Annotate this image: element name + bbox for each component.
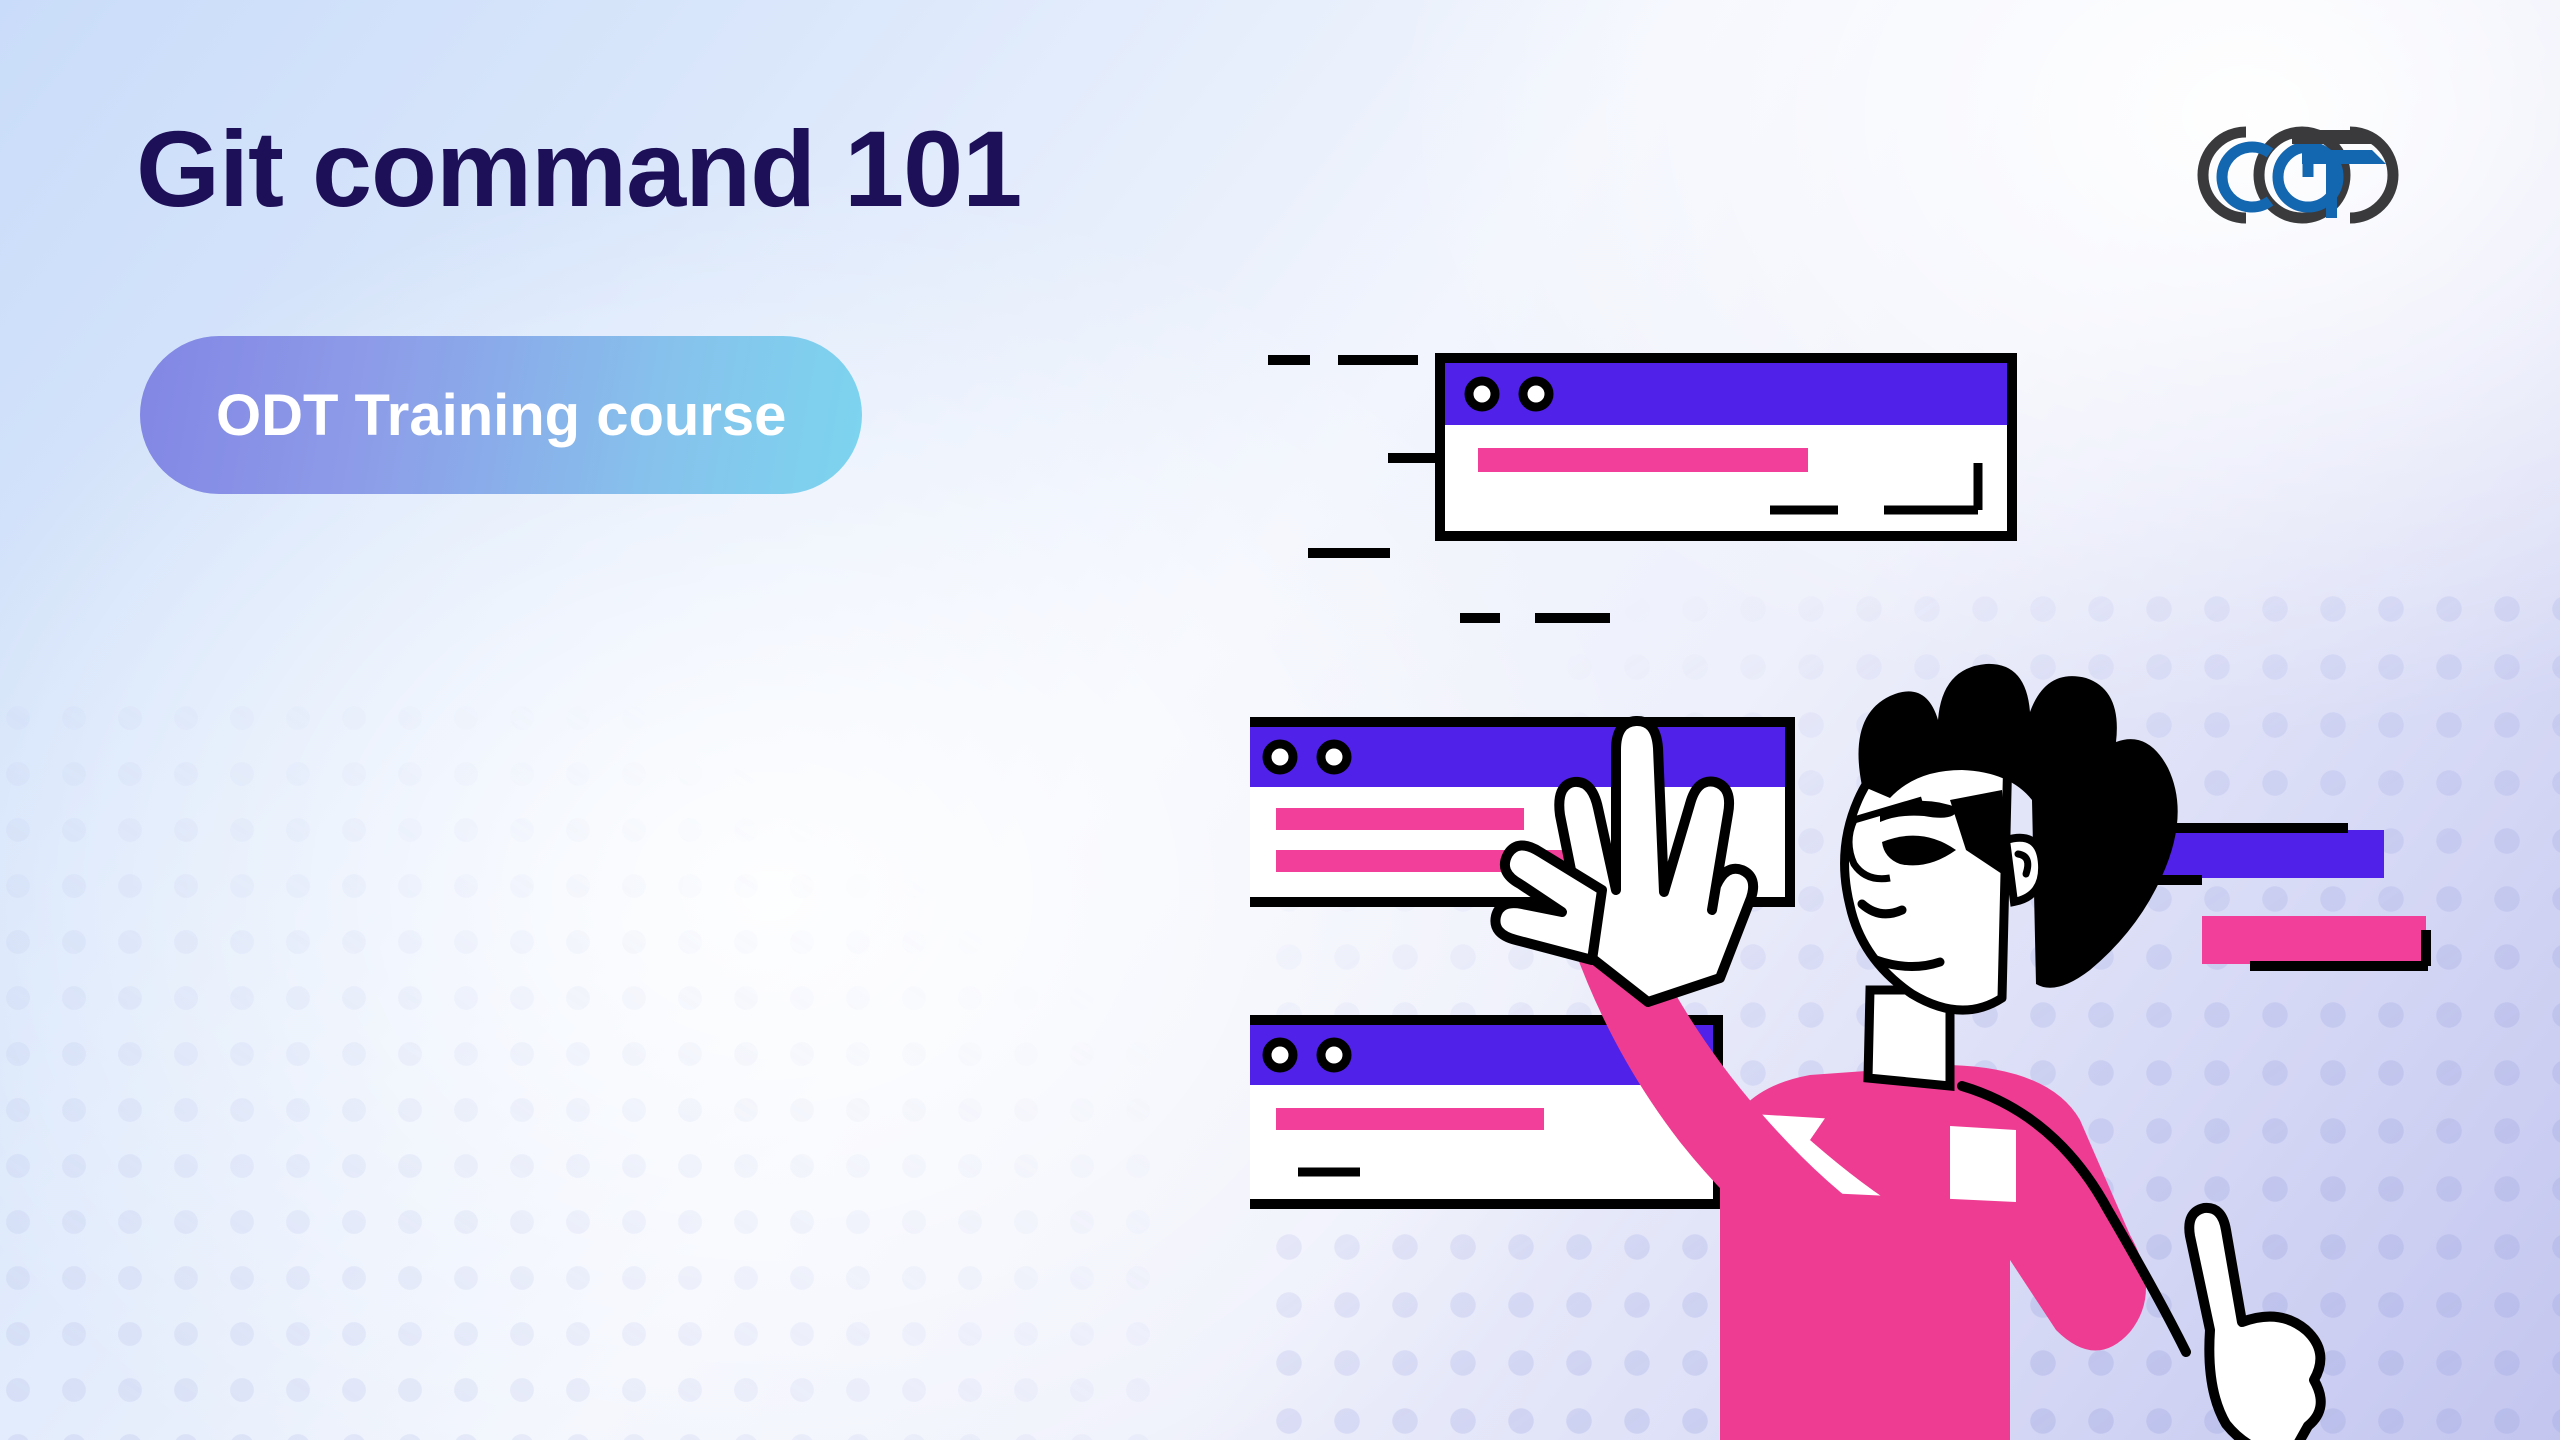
- window-dot: [1469, 381, 1495, 407]
- content-bar: [1276, 1108, 1544, 1130]
- window-dot: [1321, 1042, 1347, 1068]
- window-dot: [1267, 744, 1293, 770]
- content-bar: [1276, 808, 1524, 830]
- window-dot: [1267, 1042, 1293, 1068]
- page-title: Git command 101: [136, 112, 1021, 225]
- floating-bar-purple: [2148, 828, 2384, 880]
- course-badge-label: ODT Training course: [216, 382, 786, 449]
- odt-logo: [2174, 110, 2434, 240]
- pointing-up-hand: [2189, 1208, 2320, 1440]
- hero-illustration: [1250, 330, 2550, 1440]
- halftone-dots-bottom-left: [0, 690, 1170, 1440]
- banner-root: Git command 101 ODT Training course: [0, 0, 2560, 1440]
- window-top: [1440, 358, 2012, 536]
- content-bar: [1478, 448, 1808, 472]
- window-dot: [1523, 381, 1549, 407]
- window-dot: [1321, 744, 1347, 770]
- course-badge: ODT Training course: [140, 336, 862, 494]
- logo-blue-letters: [2222, 130, 2386, 218]
- floating-bar-pink: [2202, 916, 2428, 966]
